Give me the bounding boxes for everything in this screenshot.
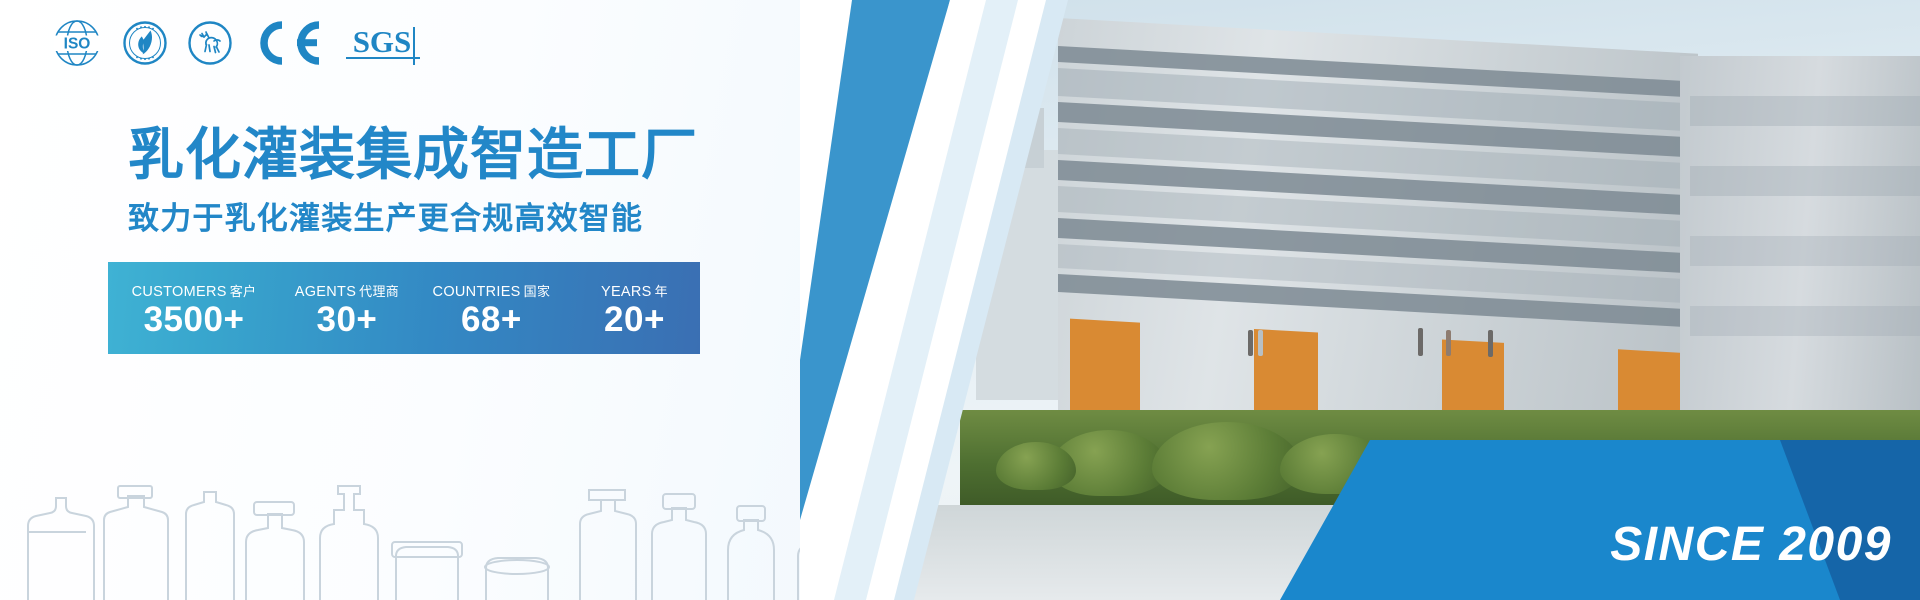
stat-value: 30+ — [316, 302, 377, 337]
right-wing-facade — [1680, 56, 1920, 428]
since-badge-text: SINCE 2009 — [1610, 517, 1892, 572]
stat-label-cn: 国家 — [524, 284, 551, 299]
stat-label-en: AGENTS — [295, 284, 356, 300]
pedestrian — [1418, 328, 1423, 356]
ce-marking-badge — [253, 20, 323, 66]
pedestrian — [1446, 330, 1451, 356]
sgs-certification-badge: SGS — [344, 19, 428, 67]
window-strip — [1690, 236, 1920, 266]
pedestrian — [1248, 330, 1253, 356]
svg-text:ISO: ISO — [64, 36, 91, 53]
stat-label-cn: 代理商 — [359, 284, 399, 299]
statistics-bar: CUSTOMERS客户 3500+ AGENTS代理商 30+ COUNTRIE… — [108, 262, 700, 354]
stat-label: COUNTRIES国家 — [433, 281, 551, 300]
stat-agents: AGENTS代理商 30+ — [280, 262, 414, 354]
promotional-banner: ISO — [0, 0, 1920, 600]
stat-label: AGENTS代理商 — [295, 281, 399, 300]
diagonal-chevron-overlay — [800, 0, 1220, 600]
since-badge: SINCE 2009 — [1280, 440, 1920, 600]
stat-customers: CUSTOMERS客户 3500+ — [108, 262, 280, 354]
china-quality-emblem-badge — [123, 21, 167, 65]
window-strip — [1690, 96, 1920, 126]
stat-value: 20+ — [604, 302, 665, 337]
stat-label-cn: 客户 — [230, 284, 257, 299]
stat-value: 68+ — [461, 302, 522, 337]
certification-badge-row: ISO — [52, 17, 428, 69]
stat-label-en: CUSTOMERS — [132, 284, 227, 300]
pedestrian — [1258, 330, 1263, 356]
stat-label: CUSTOMERS客户 — [132, 281, 257, 300]
stat-value: 3500+ — [144, 302, 245, 337]
window-strip — [1690, 306, 1920, 336]
pedestrian — [1488, 330, 1493, 357]
page-title: 乳化灌装集成智造工厂 — [128, 124, 698, 187]
deer-emblem-badge — [188, 21, 232, 65]
stat-countries: COUNTRIES国家 68+ — [414, 262, 569, 354]
window-strip — [1690, 166, 1920, 196]
stat-years: YEARS年 20+ — [569, 262, 700, 354]
page-subtitle: 致力于乳化灌装生产更合规高效智能 — [128, 200, 643, 237]
stat-label-en: COUNTRIES — [433, 284, 521, 300]
svg-text:SGS: SGS — [353, 24, 412, 59]
stat-label-en: YEARS — [601, 284, 652, 300]
stat-label: YEARS年 — [601, 281, 668, 300]
factory-photo-panel: SINCE 2009 — [800, 0, 1920, 600]
stat-label-cn: 年 — [655, 284, 668, 299]
iso-certification-badge: ISO — [52, 18, 102, 68]
